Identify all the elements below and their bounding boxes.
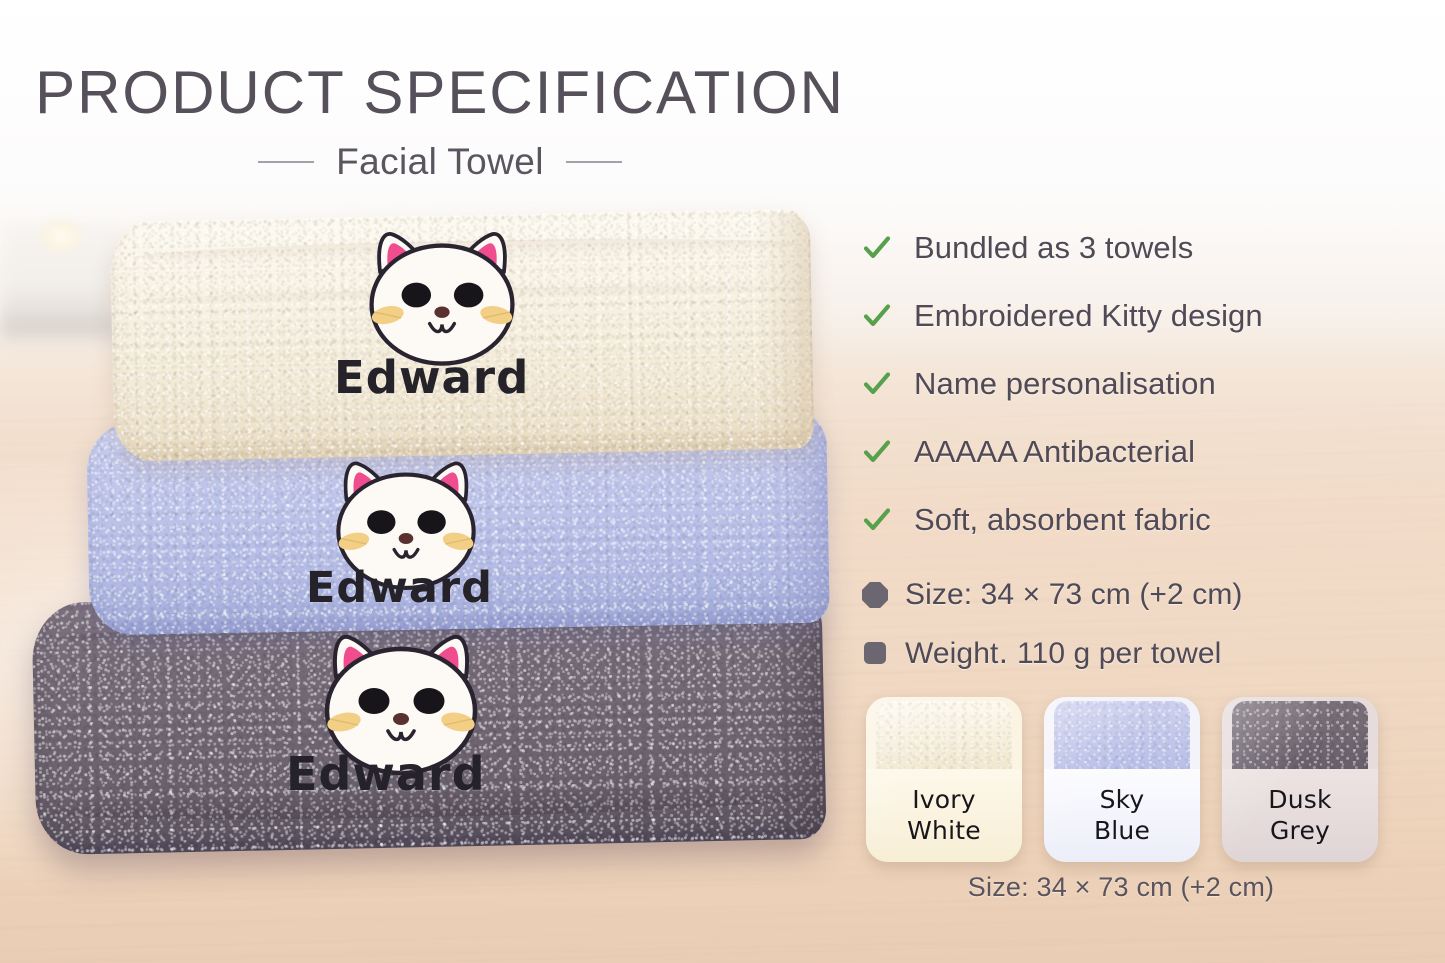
page-title: PRODUCT SPECIFICATION [0, 58, 880, 127]
swatch-towel-preview [1054, 701, 1190, 775]
feature-item: Name personalisation [862, 350, 1422, 418]
metric-weight: Weight․ 110 g per towel [862, 624, 1422, 682]
swatch-label-line-1: Dusk [1268, 786, 1331, 815]
terry-texture [1054, 701, 1190, 775]
embroidered-name: Edward [334, 351, 529, 404]
metric-size: Size: 34 × 73 cm (+2 cm) [862, 566, 1422, 624]
check-icon [862, 505, 892, 535]
swatch-ivory-white[interactable]: Ivory White [866, 697, 1022, 862]
subtitle-rule-right [566, 161, 622, 163]
feature-item: Soft, absorbent fabric [862, 486, 1422, 554]
metrics-list: Size: 34 × 73 cm (+2 cm) Weight․ 110 g p… [862, 566, 1422, 682]
page-subtitle: Facial Towel [336, 141, 544, 183]
towel-right-edge-shading [757, 593, 826, 838]
towel-right-edge-shading [756, 212, 814, 445]
feature-label: Soft, absorbent fabric [914, 502, 1211, 538]
swatch-label-line-2: White [907, 817, 981, 846]
swatch-size-caption: Size: 34 × 73 cm (+2 cm) [866, 872, 1376, 903]
swatch-towel-preview [876, 701, 1012, 775]
metric-label: Size: 34 × 73 cm (+2 cm) [905, 578, 1243, 612]
product-photo-towel-stack: Edward [0, 195, 880, 895]
poster-header: PRODUCT SPECIFICATION Facial Towel [0, 0, 880, 183]
feature-item: Bundled as 3 towels [862, 214, 1422, 282]
embroidered-name: Edward [306, 563, 493, 613]
embroidered-name: Edward [286, 747, 486, 801]
swatch-label-line-1: Sky [1100, 786, 1145, 815]
swatch-towel-preview [1232, 701, 1368, 775]
feature-label: Name personalisation [914, 366, 1216, 402]
swatch-label-line-2: Blue [1094, 817, 1150, 846]
rounded-square-bullet-icon [862, 640, 888, 666]
product-specification-poster: PRODUCT SPECIFICATION Facial Towel [0, 0, 1445, 963]
feature-label: Embroidered Kitty design [914, 298, 1263, 334]
feature-label: AAAAA Antibacterial [914, 434, 1195, 470]
swatch-label-panel: Ivory White [866, 769, 1022, 862]
check-icon [862, 301, 892, 331]
swatch-dusk-grey[interactable]: Dusk Grey [1222, 697, 1378, 862]
feature-label: Bundled as 3 towels [914, 230, 1193, 266]
check-icon [862, 369, 892, 399]
check-icon [862, 437, 892, 467]
terry-texture [876, 701, 1012, 775]
metric-label: Weight․ 110 g per towel [905, 636, 1221, 671]
feature-item: Embroidered Kitty design [862, 282, 1422, 350]
swatch-sky-blue[interactable]: Sky Blue [1044, 697, 1200, 862]
swatch-label-panel: Sky Blue [1044, 769, 1200, 862]
feature-item: AAAAA Antibacterial [862, 418, 1422, 486]
subtitle-row: Facial Towel [0, 141, 880, 183]
check-icon [862, 233, 892, 263]
octagon-bullet-icon [862, 582, 888, 608]
terry-texture [1232, 701, 1368, 775]
swatch-label-panel: Dusk Grey [1222, 769, 1378, 862]
subtitle-rule-left [258, 161, 314, 163]
specification-list: Bundled as 3 towels Embroidered Kitty de… [862, 214, 1422, 682]
swatch-label-line-2: Grey [1270, 817, 1330, 846]
color-swatch-list: Ivory White Sky Blue Dusk Grey [866, 697, 1378, 862]
swatch-label-line-1: Ivory [912, 786, 976, 815]
